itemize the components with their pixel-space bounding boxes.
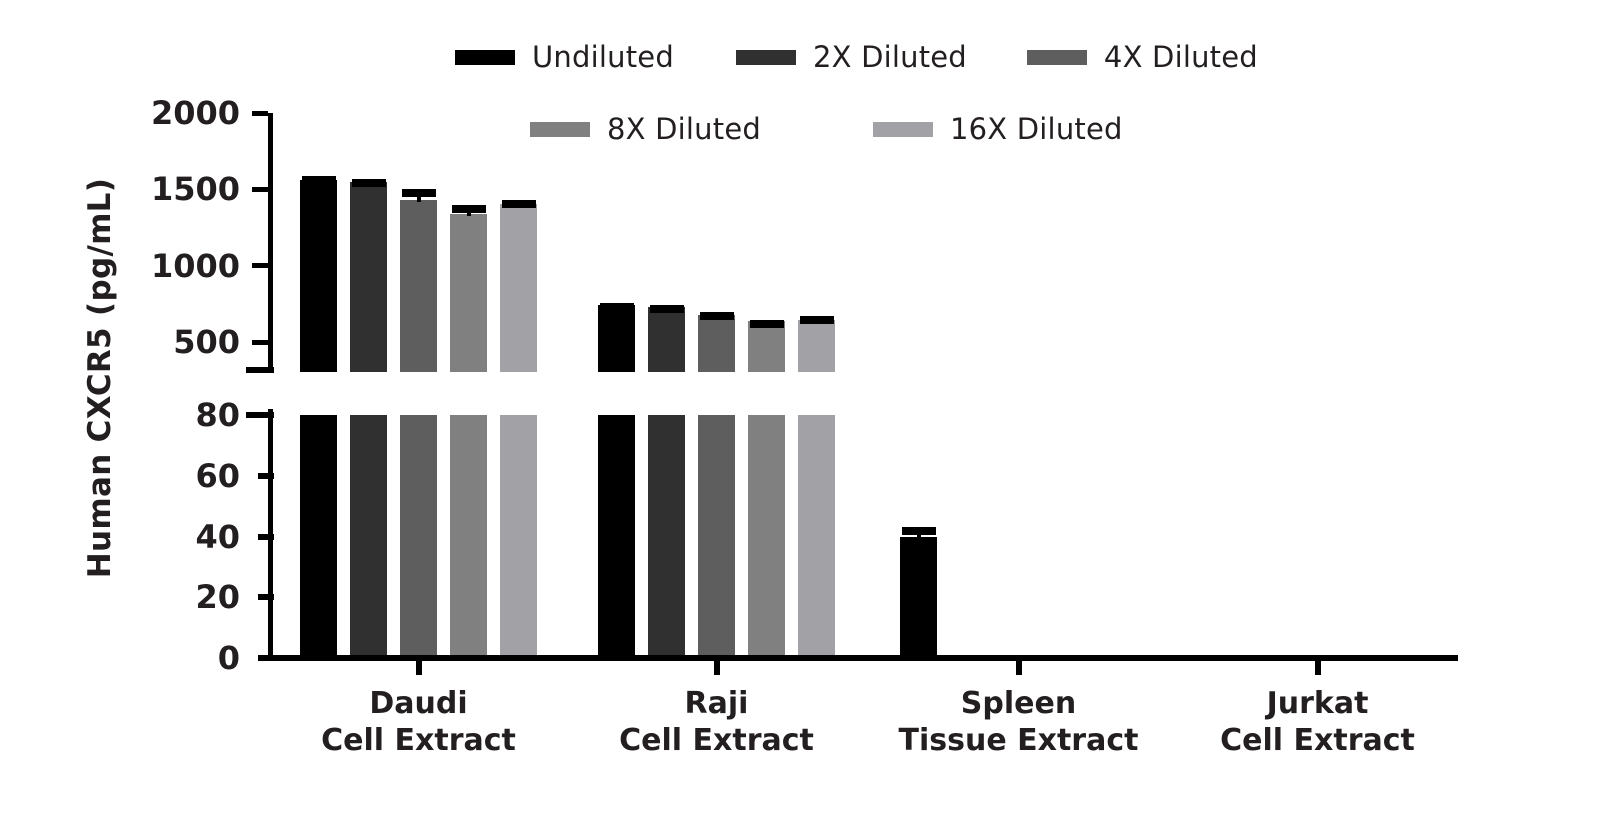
legend-swatch-undiluted bbox=[455, 50, 515, 65]
y-tick-label-80: 80 bbox=[100, 396, 240, 434]
bar-1-2[interactable] bbox=[698, 415, 735, 658]
bar-upper-0-0[interactable] bbox=[300, 180, 337, 372]
bar-upper-1-2[interactable] bbox=[698, 315, 735, 372]
legend-swatch-4x bbox=[1027, 50, 1087, 65]
legend-row-2: 8X Diluted 16X Diluted bbox=[530, 112, 1210, 146]
legend-label-undiluted: Undiluted bbox=[532, 40, 674, 74]
bar-0-4[interactable] bbox=[500, 415, 537, 658]
y-tick-label-500: 500 bbox=[100, 323, 240, 361]
y-tick-label-20: 20 bbox=[100, 578, 240, 616]
x-axis-label-3: JurkatCell Extract bbox=[1220, 686, 1415, 759]
x-tick-0 bbox=[416, 661, 422, 675]
legend-label-2x: 2X Diluted bbox=[813, 40, 967, 74]
bar-upper-0-1[interactable] bbox=[350, 182, 387, 372]
y-axis-break-cap-upper bbox=[246, 367, 274, 373]
y-tick-label-60: 60 bbox=[100, 457, 240, 495]
legend-swatch-16x bbox=[873, 122, 933, 137]
x-tick-3 bbox=[1315, 661, 1321, 675]
y-tick-lower-20 bbox=[258, 594, 274, 600]
error-cap-1-2 bbox=[700, 312, 734, 320]
bar-upper-1-3[interactable] bbox=[748, 321, 785, 372]
y-axis-spine-upper bbox=[268, 113, 273, 372]
bar-0-1[interactable] bbox=[350, 415, 387, 658]
bar-upper-0-3[interactable] bbox=[450, 214, 487, 372]
legend-item-8x: 8X Diluted bbox=[530, 112, 761, 146]
bar-0-0[interactable] bbox=[300, 415, 337, 658]
chart-figure: Undiluted 2X Diluted 4X Diluted 8X Dilut… bbox=[0, 0, 1600, 833]
x-axis-label-line2: Cell Extract bbox=[619, 723, 814, 760]
bar-upper-0-4[interactable] bbox=[500, 204, 537, 372]
bar-upper-1-0[interactable] bbox=[598, 305, 635, 372]
error-cap-1-3 bbox=[750, 320, 784, 328]
x-tick-1 bbox=[714, 661, 720, 675]
error-cap-0-2 bbox=[402, 189, 436, 197]
x-axis-label-line1: Daudi bbox=[321, 686, 516, 723]
bar-upper-1-4[interactable] bbox=[798, 320, 835, 372]
legend-item-4x: 4X Diluted bbox=[1027, 40, 1258, 74]
legend-swatch-2x bbox=[736, 50, 796, 65]
error-cap-0-0 bbox=[302, 176, 336, 184]
x-axis-label-line1: Jurkat bbox=[1220, 686, 1415, 723]
y-tick-upper-1000 bbox=[252, 263, 268, 268]
error-cap-0-3 bbox=[452, 205, 486, 213]
legend-item-2x: 2X Diluted bbox=[736, 40, 967, 74]
legend-label-8x: 8X Diluted bbox=[607, 112, 761, 146]
bar-1-0[interactable] bbox=[598, 415, 635, 658]
legend-label-16x: 16X Diluted bbox=[950, 112, 1123, 146]
y-tick-label-1500: 1500 bbox=[100, 170, 240, 208]
x-axis-label-line2: Cell Extract bbox=[1220, 723, 1415, 760]
legend-swatch-8x bbox=[530, 122, 590, 137]
x-axis-line bbox=[268, 655, 1458, 661]
bar-1-3[interactable] bbox=[748, 415, 785, 658]
legend-row-1: Undiluted 2X Diluted 4X Diluted bbox=[455, 40, 1285, 74]
legend-label-4x: 4X Diluted bbox=[1104, 40, 1258, 74]
y-tick-label-2000: 2000 bbox=[100, 94, 240, 132]
x-tick-2 bbox=[1016, 661, 1022, 675]
bar-2-0[interactable] bbox=[900, 537, 937, 659]
y-tick-upper-1500 bbox=[252, 187, 268, 192]
y-tick-upper-500 bbox=[252, 340, 268, 345]
x-axis-label-0: DaudiCell Extract bbox=[321, 686, 516, 759]
x-axis-label-2: SpleenTissue Extract bbox=[899, 686, 1139, 759]
y-tick-label-0: 0 bbox=[100, 639, 240, 677]
y-tick-lower-40 bbox=[258, 534, 274, 540]
bar-upper-0-2[interactable] bbox=[400, 200, 437, 372]
y-tick-label-40: 40 bbox=[100, 518, 240, 556]
bar-1-1[interactable] bbox=[648, 415, 685, 658]
x-axis-label-line1: Raji bbox=[619, 686, 814, 723]
legend-item-16x: 16X Diluted bbox=[873, 112, 1123, 146]
x-axis-label-line2: Tissue Extract bbox=[899, 723, 1139, 760]
error-cap-1-1 bbox=[650, 305, 684, 313]
y-tick-label-1000: 1000 bbox=[100, 247, 240, 285]
y-tick-lower-80 bbox=[246, 412, 274, 418]
bar-0-3[interactable] bbox=[450, 415, 487, 658]
x-axis-label-line1: Spleen bbox=[899, 686, 1139, 723]
x-axis-label-1: RajiCell Extract bbox=[619, 686, 814, 759]
y-tick-upper-2000 bbox=[252, 111, 268, 116]
error-cap-0-1 bbox=[352, 179, 386, 187]
error-cap-1-4 bbox=[800, 316, 834, 324]
bar-0-2[interactable] bbox=[400, 415, 437, 658]
error-cap-1-0 bbox=[600, 303, 634, 311]
bar-1-4[interactable] bbox=[798, 415, 835, 658]
legend-item-undiluted: Undiluted bbox=[455, 40, 674, 74]
error-cap-2-0 bbox=[902, 527, 936, 535]
x-axis-label-line2: Cell Extract bbox=[321, 723, 516, 760]
y-tick-lower-60 bbox=[258, 473, 274, 479]
error-cap-0-4 bbox=[502, 200, 536, 208]
bar-upper-1-1[interactable] bbox=[648, 307, 685, 372]
